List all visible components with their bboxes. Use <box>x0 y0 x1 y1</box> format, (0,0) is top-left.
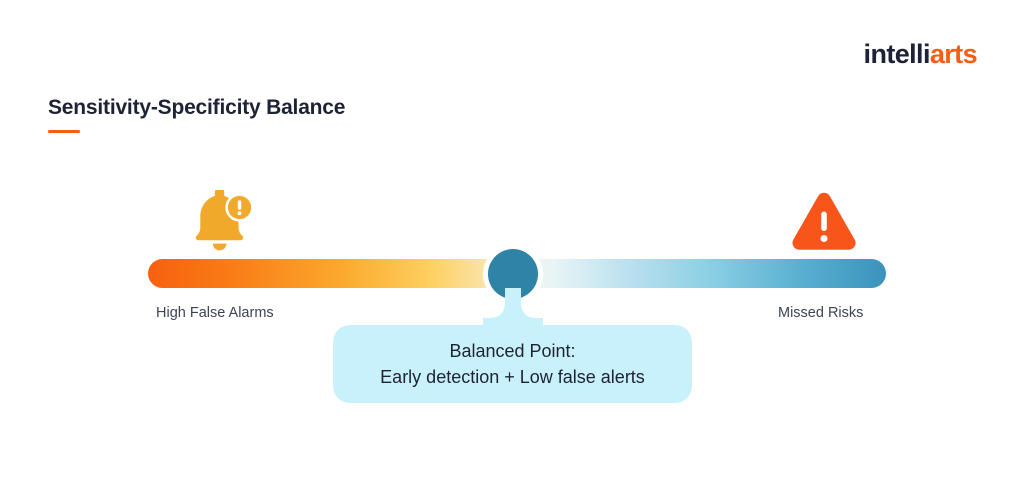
warning-triangle-icon <box>791 191 857 251</box>
left-end-label: High False Alarms <box>156 305 274 321</box>
sensitivity-specificity-diagram: Balanced Point: Early detection + Low fa… <box>0 0 1024 486</box>
bell-alert-icon <box>185 190 257 252</box>
callout-line-1: Balanced Point: <box>449 338 575 364</box>
right-end-label: Missed Risks <box>778 305 863 321</box>
callout-line-2: Early detection + Low false alerts <box>380 364 645 390</box>
callout-pointer <box>483 288 543 330</box>
balanced-point-callout: Balanced Point: Early detection + Low fa… <box>333 325 692 403</box>
